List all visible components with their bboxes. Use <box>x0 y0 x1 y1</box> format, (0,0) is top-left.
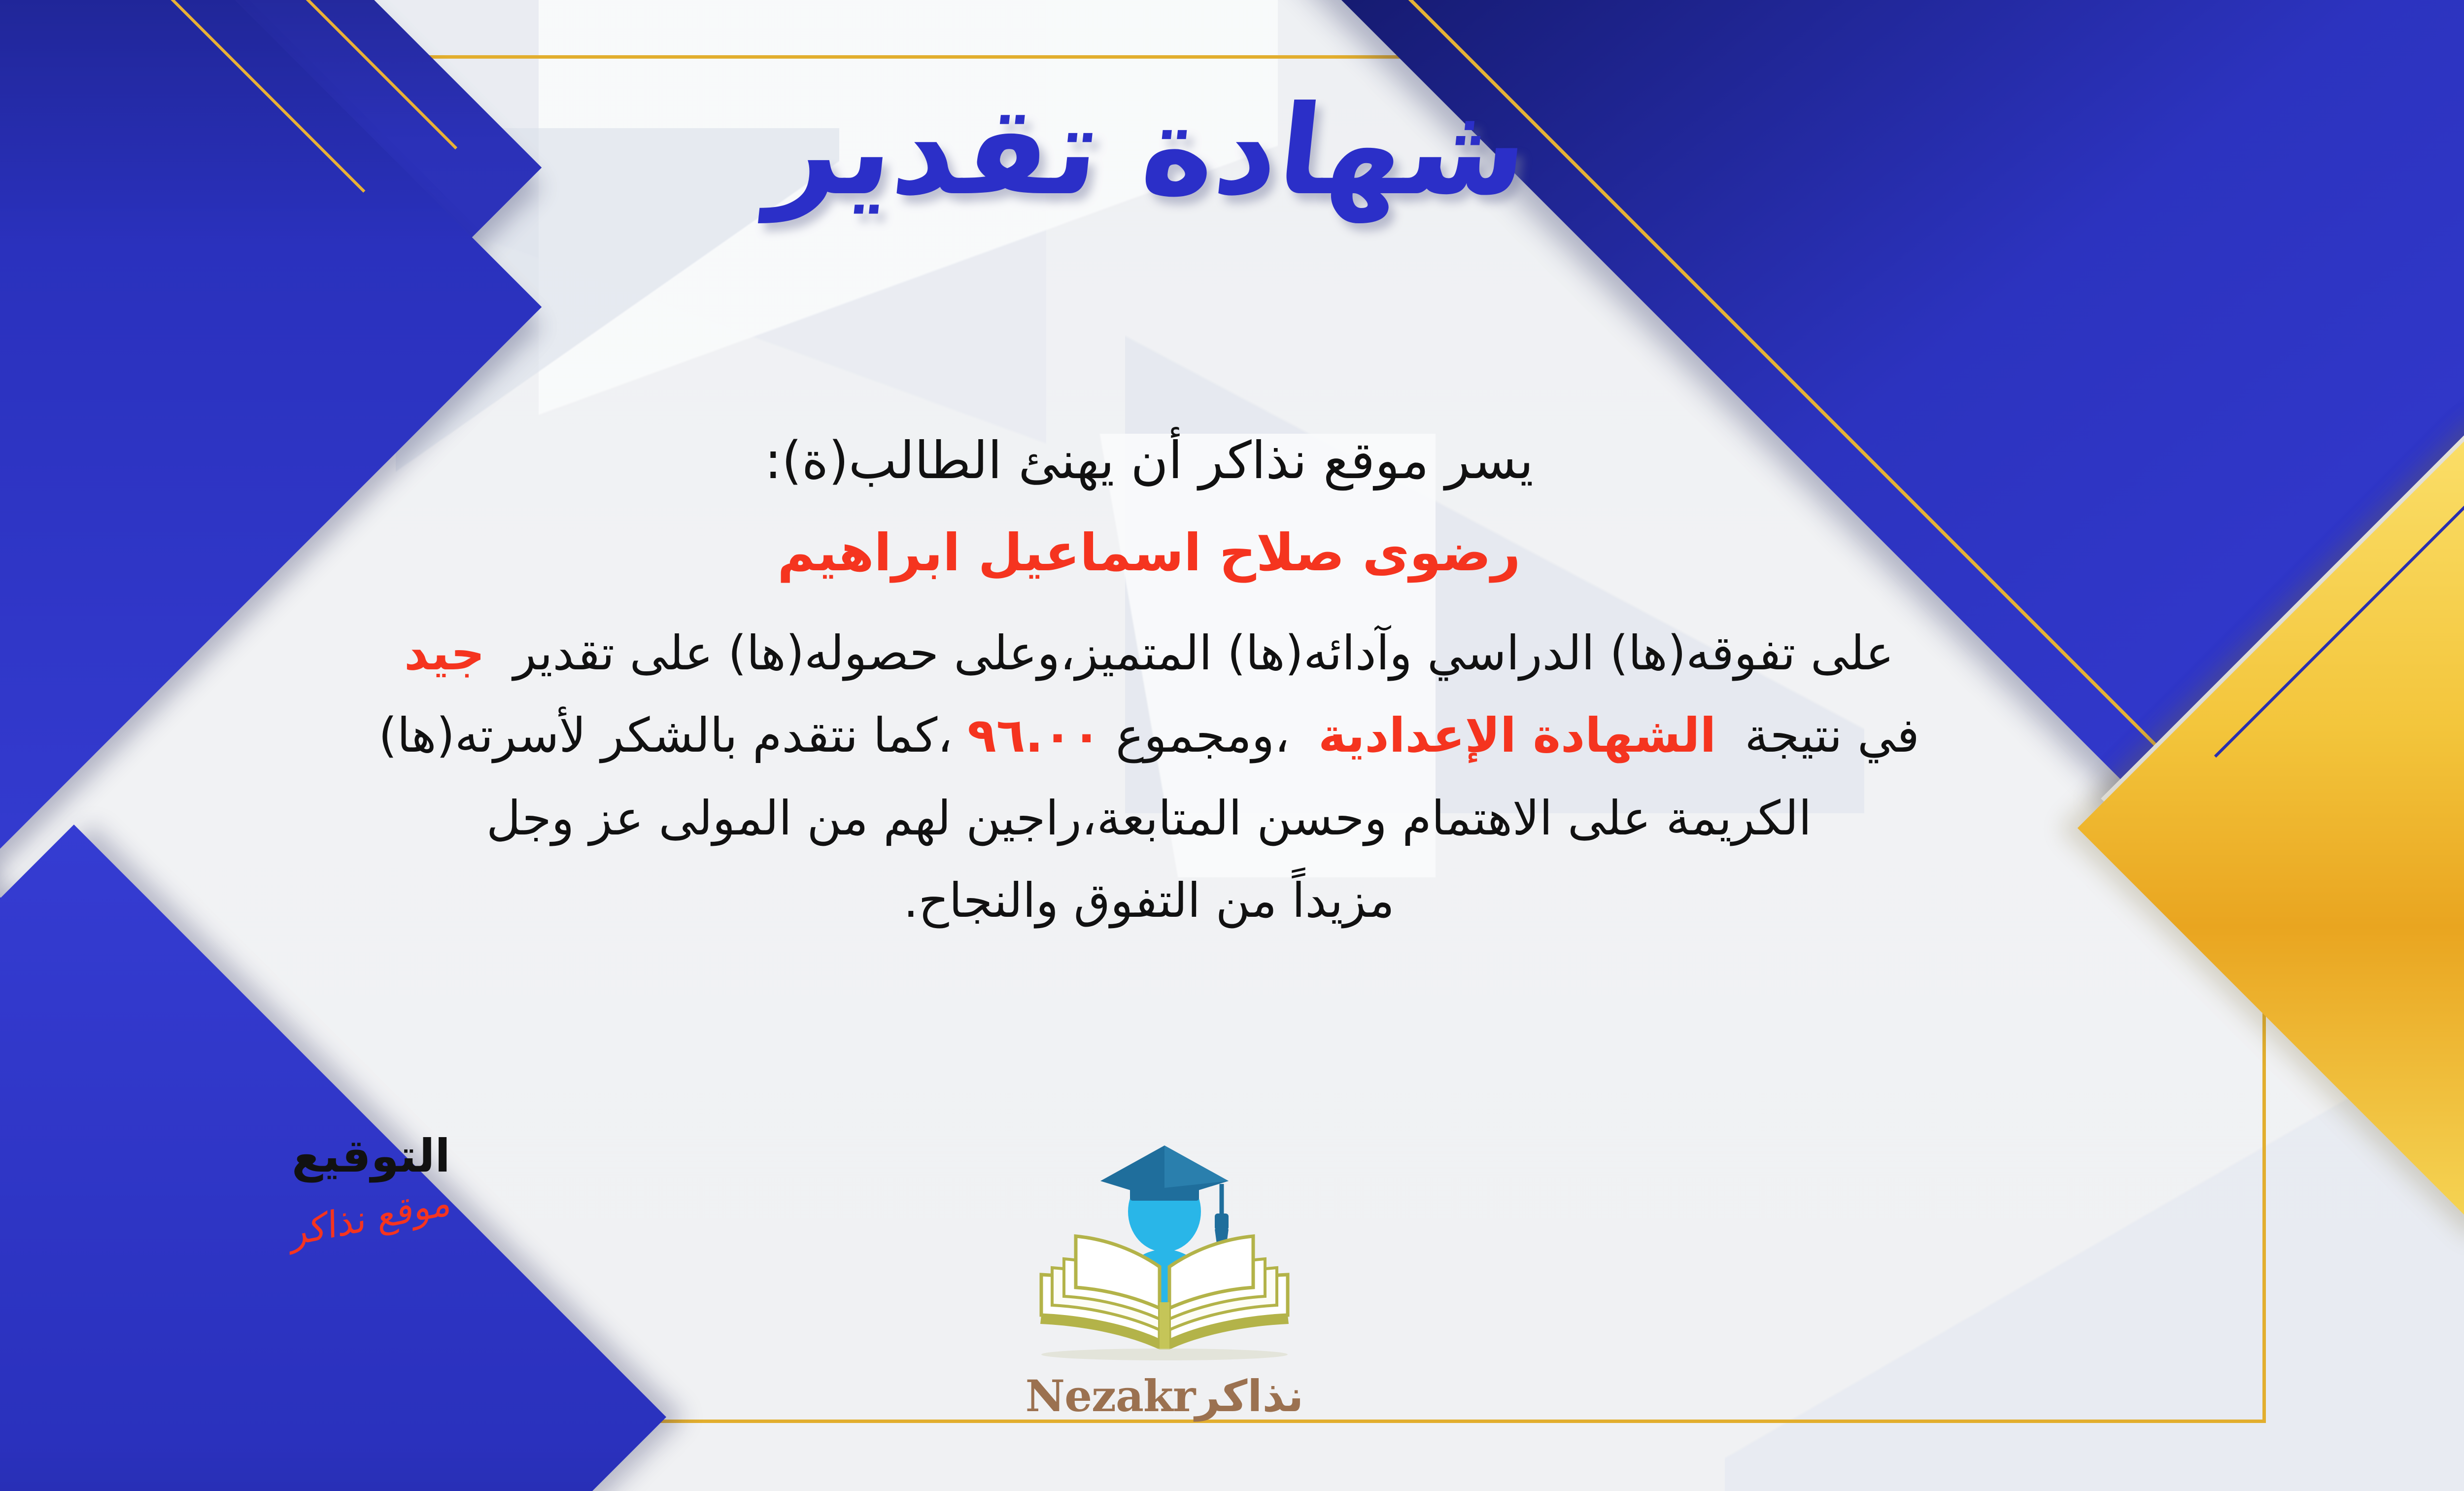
logo-shadow <box>1041 1349 1288 1360</box>
result-prefix-text: في نتيجة <box>1745 708 1919 763</box>
certificate-content: شهادة تقدير يسر موقع نذاكر أن يهنئ الطال… <box>0 0 2464 1491</box>
signature-mark: موقع نذاكر <box>290 1181 452 1255</box>
paragraph-line-1-text: على تفوقه(ها) الدراسي وآدائه(ها) المتميز… <box>513 625 1894 681</box>
thanks-text: ،كما نتقدم بالشكر لأسرته(ها) <box>378 708 953 763</box>
logo-book-spine <box>1160 1302 1169 1350</box>
paragraph-line-1: على تفوقه(ها) الدراسي وآدائه(ها) المتميز… <box>0 615 2336 692</box>
student-name: رضوى صلاح اسماعيل ابراهيم <box>0 520 2336 586</box>
logo-tassel-knot <box>1215 1214 1229 1230</box>
logo-cap-top-light <box>1164 1145 1229 1188</box>
certificate-canvas: شهادة تقدير يسر موقع نذاكر أن يهنئ الطال… <box>0 0 2464 1491</box>
grade-value: جيد <box>404 625 485 681</box>
logo-graphic <box>982 1129 1347 1360</box>
paragraph-line-3: الكريمة على الاهتمام وحسن المتابعة،راجين… <box>0 780 2336 857</box>
certificate-body: يسر موقع نذاكر أن يهنئ الطالب(ة): رضوى ص… <box>0 419 2336 939</box>
nezakr-logo: Nezakrنذاكر <box>982 1129 1347 1424</box>
paragraph-line-2: في نتيجةالشهادة الإعدادية،ومجموع٩٦.٠٠،كم… <box>0 697 2336 774</box>
exam-name: الشهادة الإعدادية <box>1318 708 1716 763</box>
intro-line: يسر موقع نذاكر أن يهنئ الطالب(ة): <box>0 419 2336 502</box>
logo-wordmark-arabic: نذاكر <box>1195 1371 1303 1422</box>
total-score: ٩٦.٠٠ <box>967 708 1101 763</box>
paragraph-line-4: مزيداً من التفوق والنجاح. <box>0 863 2336 939</box>
signature-label: التوقيع <box>199 1134 544 1179</box>
logo-wordmark: Nezakrنذاكر <box>982 1370 1347 1422</box>
certificate-title: شهادة تقدير <box>0 74 2464 228</box>
signature-block: التوقيع موقع نذاكر <box>199 1134 544 1239</box>
total-label: ،ومجموع <box>1116 708 1290 763</box>
logo-wordmark-latin: Nezakr <box>1026 1370 1196 1422</box>
